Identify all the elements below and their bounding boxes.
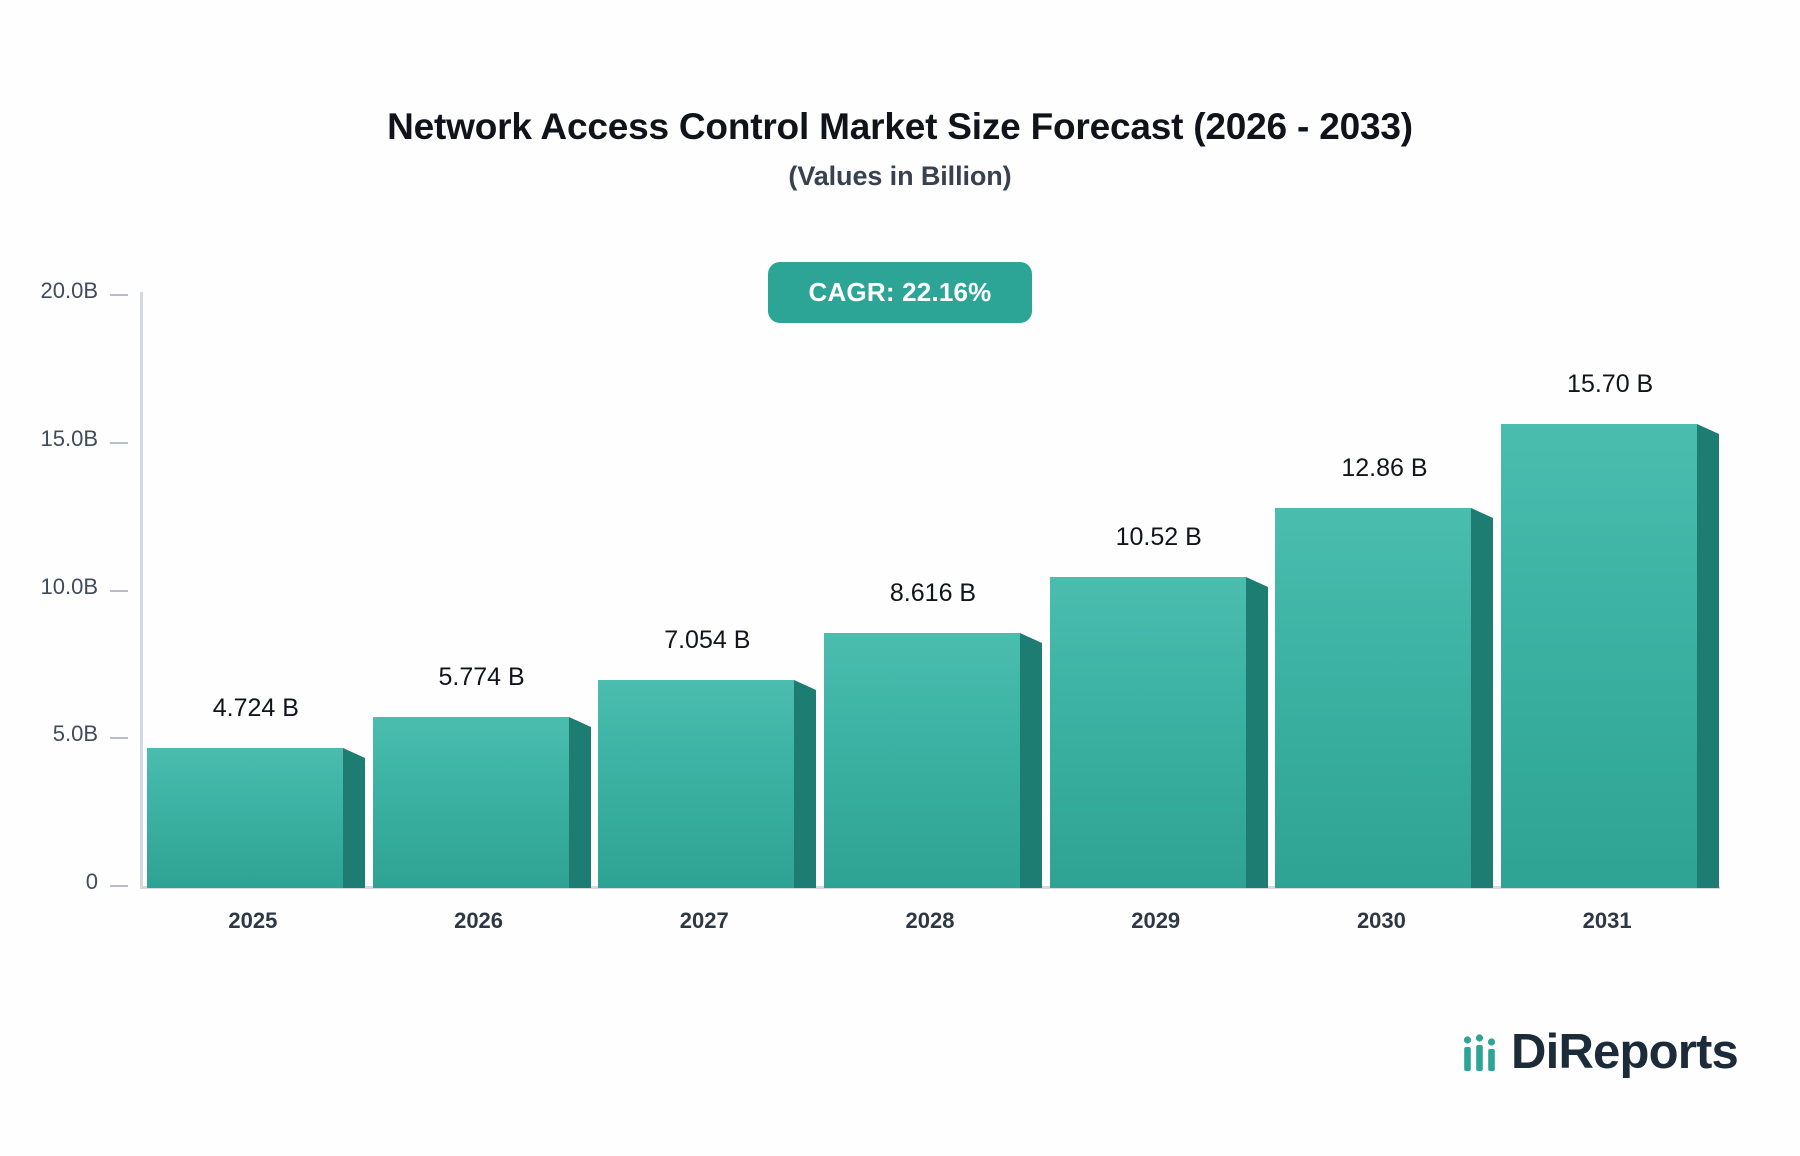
bar-top-cap xyxy=(1697,424,1719,434)
bar-2025[interactable] xyxy=(147,0,343,1156)
brand-logo: DiReports xyxy=(1461,1028,1738,1077)
y-tick-label: 5.0B xyxy=(53,721,98,747)
x-axis-label-2025: 2025 xyxy=(143,908,363,934)
y-tick-label: 20.0B xyxy=(41,278,99,304)
bar-top-cap xyxy=(569,717,591,727)
bar-top-cap xyxy=(794,680,816,690)
bar-value-label: 15.70 B xyxy=(1440,370,1780,399)
bar-value-label: 7.054 B xyxy=(537,626,877,655)
bar-value-label: 12.86 B xyxy=(1214,454,1554,483)
bar-side xyxy=(794,690,816,888)
bar-face xyxy=(824,633,1020,888)
y-tick-mark xyxy=(110,737,128,739)
bar-side xyxy=(1020,643,1042,888)
bar-top-cap xyxy=(1246,577,1268,587)
bar-series xyxy=(140,0,1720,1156)
bar-side xyxy=(1471,518,1493,888)
bar-face xyxy=(1501,424,1697,888)
x-axis-label-2029: 2029 xyxy=(1046,908,1266,934)
bar-value-label: 5.774 B xyxy=(312,663,652,692)
bar-value-label: 10.52 B xyxy=(989,523,1329,552)
bar-side xyxy=(343,758,365,888)
bar-side xyxy=(569,727,591,888)
bar-top-cap xyxy=(1471,508,1493,518)
y-tick-mark xyxy=(110,294,128,296)
bar-2029[interactable] xyxy=(1050,0,1246,1156)
bar-2030[interactable] xyxy=(1275,0,1471,1156)
x-axis-label-2031: 2031 xyxy=(1497,908,1717,934)
bar-face xyxy=(147,748,343,888)
x-axis-label-2027: 2027 xyxy=(594,908,814,934)
chart-canvas: Network Access Control Market Size Forec… xyxy=(0,0,1800,1156)
bar-value-label: 4.724 B xyxy=(86,694,426,723)
bar-face xyxy=(598,680,794,888)
bar-chart-icon xyxy=(1461,1032,1505,1074)
bar-2027[interactable] xyxy=(598,0,794,1156)
x-axis-label-2028: 2028 xyxy=(820,908,1040,934)
bar-2031[interactable] xyxy=(1501,0,1697,1156)
bar-face xyxy=(1050,577,1246,888)
bar-value-label: 8.616 B xyxy=(763,579,1103,608)
y-tick-mark xyxy=(110,885,128,887)
bar-top-cap xyxy=(1020,633,1042,643)
bar-2026[interactable] xyxy=(373,0,569,1156)
bar-2028[interactable] xyxy=(824,0,1020,1156)
bar-side xyxy=(1246,587,1268,888)
x-axis-label-2026: 2026 xyxy=(369,908,589,934)
y-tick-label: 15.0B xyxy=(41,426,99,452)
bar-side xyxy=(1697,434,1719,888)
plot-area: 20.0B15.0B10.0B5.0B0 2025202620272028202… xyxy=(0,0,1800,1156)
x-axis-label-2030: 2030 xyxy=(1271,908,1491,934)
y-tick-mark xyxy=(110,590,128,592)
bar-face xyxy=(373,717,569,888)
brand-name: DiReports xyxy=(1511,1028,1738,1077)
y-tick-label: 0 xyxy=(86,869,98,895)
y-tick-label: 10.0B xyxy=(41,574,99,600)
bar-face xyxy=(1275,508,1471,888)
y-tick-mark xyxy=(110,442,128,444)
bar-top-cap xyxy=(343,748,365,758)
